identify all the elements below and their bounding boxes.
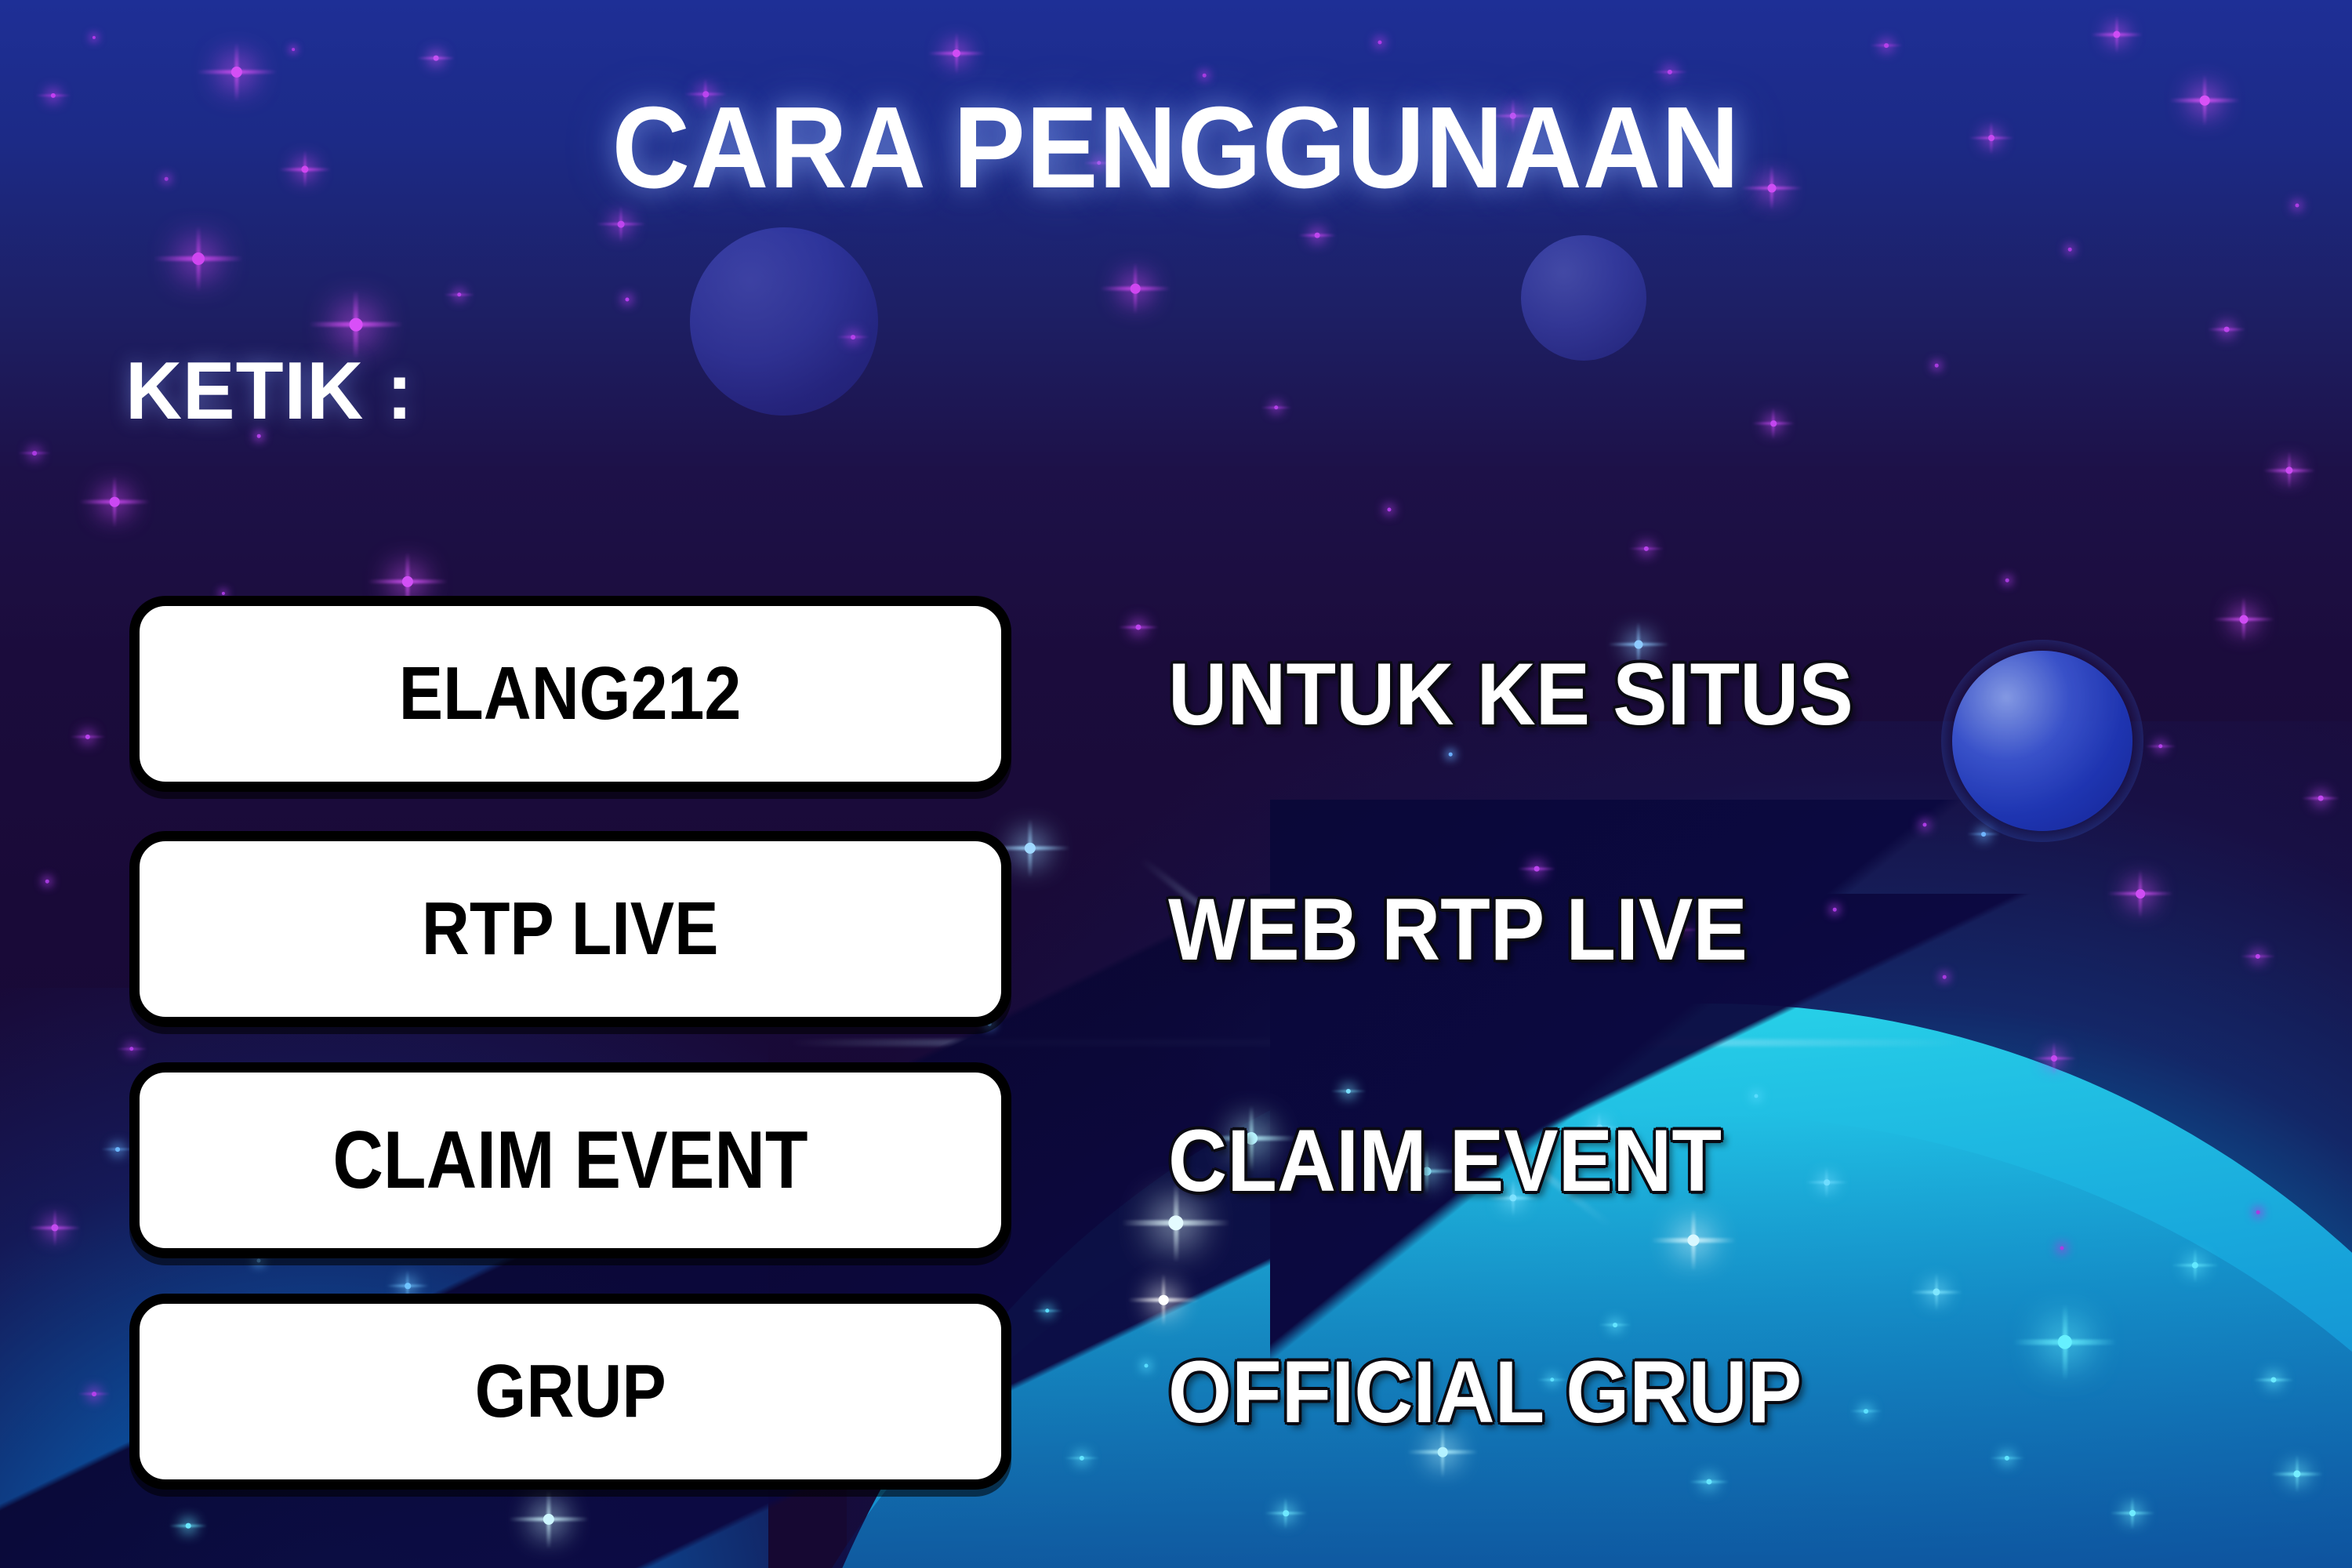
keyword-button-label: RTP LIVE: [422, 891, 719, 967]
keyword-row: ELANG212UNTUK KE SITUS: [0, 596, 2352, 792]
keyword-description-situs: UNTUK KE SITUS: [1168, 596, 1853, 792]
promo-graphic: CARA PENGGUNAAN KETIK : ELANG212UNTUK KE…: [0, 0, 2352, 1568]
keyword-row: RTP LIVEWEB RTP LIVE: [0, 831, 2352, 1027]
keyword-button-label: ELANG212: [399, 656, 742, 731]
keyword-description-claim-event: CLAIM EVENT: [1168, 1062, 1722, 1258]
keyword-button-situs[interactable]: ELANG212: [129, 596, 1011, 792]
keyword-button-rtp-live[interactable]: RTP LIVE: [129, 831, 1011, 1027]
keyword-description-rtp-live: WEB RTP LIVE: [1168, 831, 1748, 1027]
keyword-description-grup: OFFICIAL GRUP: [1168, 1294, 1802, 1490]
keyword-row: CLAIM EVENTCLAIM EVENT: [0, 1062, 2352, 1258]
keyword-button-grup[interactable]: GRUP: [129, 1294, 1011, 1490]
keyword-list: ELANG212UNTUK KE SITUSRTP LIVEWEB RTP LI…: [0, 0, 2352, 1568]
keyword-button-claim-event[interactable]: CLAIM EVENT: [129, 1062, 1011, 1258]
keyword-button-label: GRUP: [474, 1354, 666, 1429]
keyword-button-label: CLAIM EVENT: [332, 1120, 808, 1201]
keyword-row: GRUPOFFICIAL GRUP: [0, 1294, 2352, 1490]
